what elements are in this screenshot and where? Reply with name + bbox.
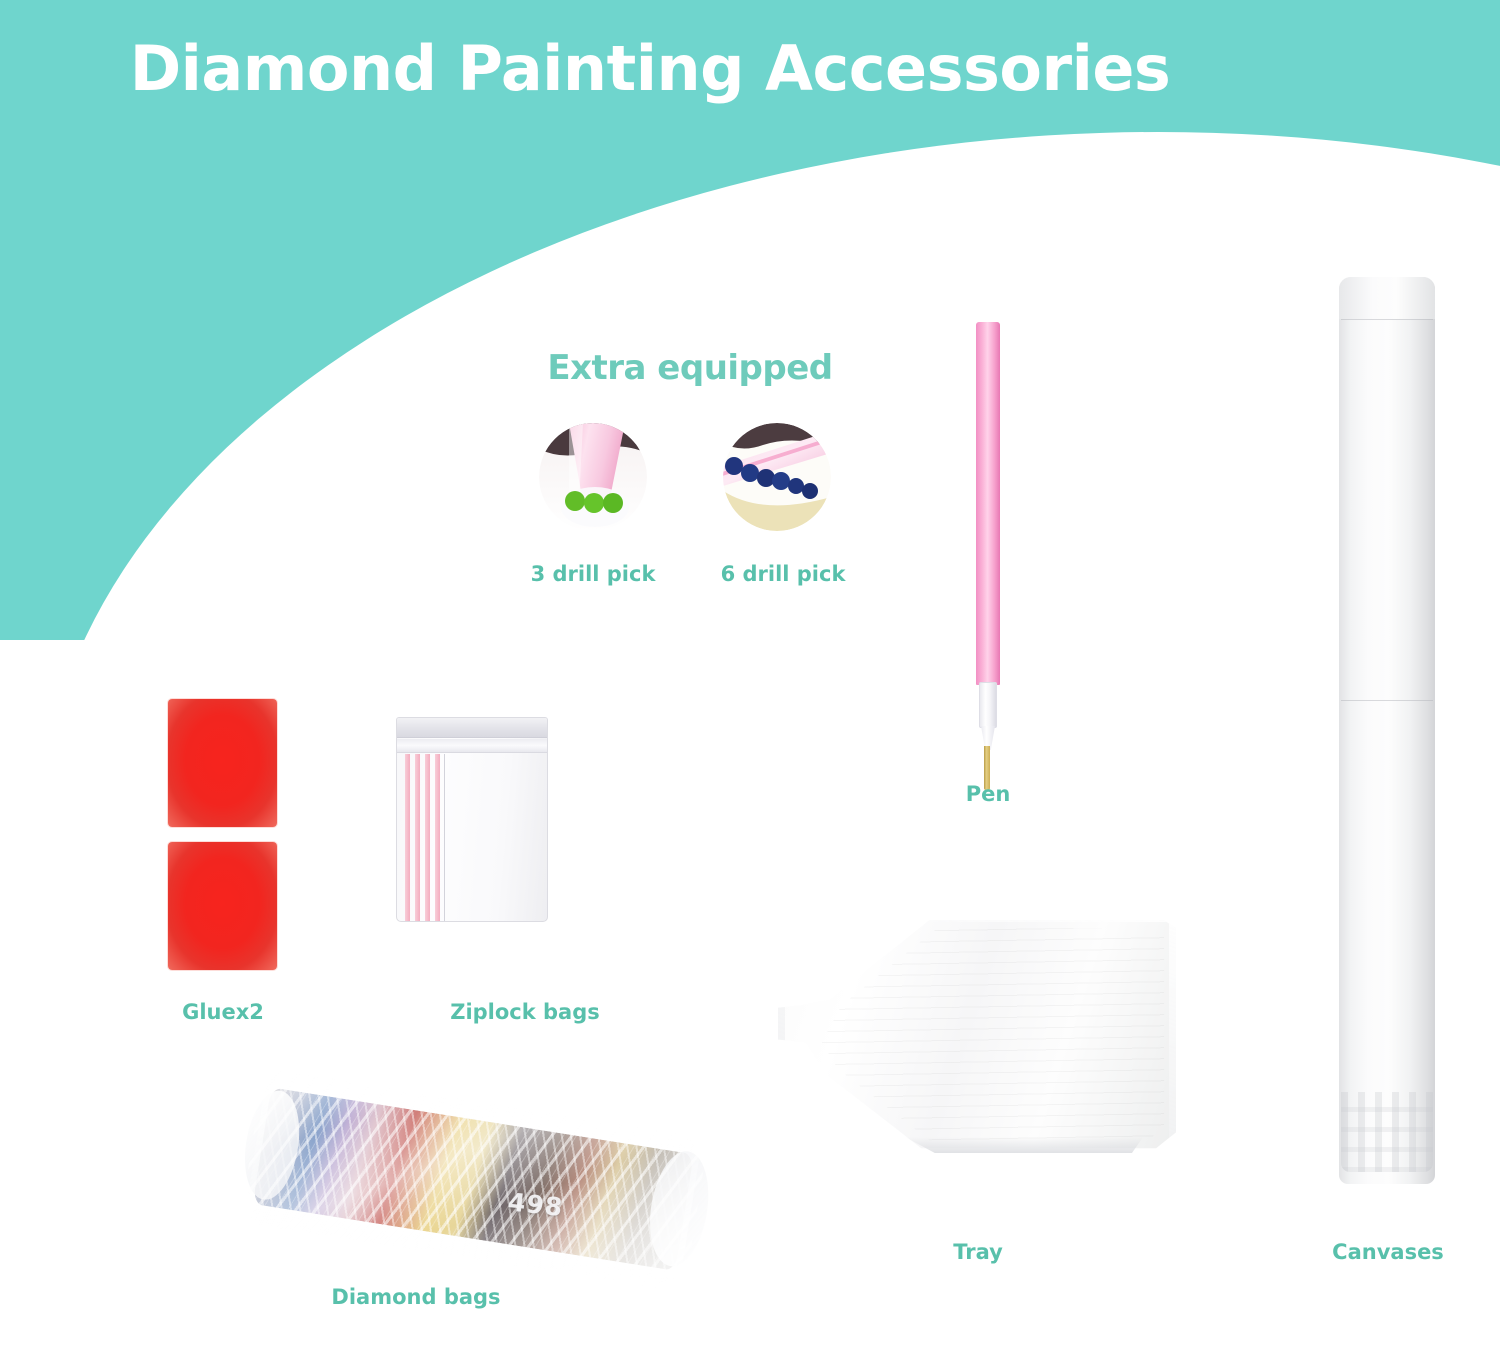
- bundle-plastic-film: [244, 1069, 703, 1292]
- canvas-tube-top-band: [1339, 277, 1435, 319]
- ziplock-bag-seal: [397, 739, 547, 753]
- bundle-count-text: 498: [507, 1187, 565, 1222]
- canvas-tube-seam: [1341, 319, 1433, 320]
- diamond-bags-label: Diamond bags: [258, 1285, 574, 1309]
- extra-equipped-heading: Extra equipped: [505, 348, 875, 388]
- ziplock-bag-flap: [397, 718, 547, 738]
- pink-drill-pen-body: [976, 322, 1000, 685]
- tray-label: Tray: [888, 1240, 1068, 1264]
- pen-label: Pen: [900, 782, 1076, 806]
- three-drill-pick-illustration: [539, 423, 647, 531]
- ziplock-pink-stripe: [425, 754, 430, 922]
- six-drill-pick-label: 6 drill pick: [690, 562, 876, 586]
- three-drill-pick-photo: [539, 423, 647, 531]
- glue-label: Gluex2: [140, 1000, 306, 1024]
- ziplock-inner-edge: [444, 754, 445, 922]
- pen-clear-collar: [979, 682, 997, 728]
- six-drill-pick-illustration: [723, 423, 831, 531]
- three-drill-pick-label: 3 drill pick: [500, 562, 686, 586]
- canvases-label: Canvases: [1290, 1240, 1486, 1264]
- ziplock-bag: [396, 717, 548, 922]
- glue-square-top: [168, 699, 277, 827]
- glue-square-bottom: [168, 842, 277, 970]
- rolled-canvas-tube: [1339, 277, 1435, 1184]
- product-infographic: Diamond Painting Accessories Extra equip…: [0, 0, 1500, 1346]
- ziplock-bags-label: Ziplock bags: [392, 1000, 658, 1024]
- tray-front-edge: [786, 1137, 1158, 1153]
- ziplock-pink-stripe: [415, 754, 420, 922]
- six-drill-pick-photo: [723, 423, 831, 531]
- page-title: Diamond Painting Accessories: [0, 36, 1300, 101]
- canvas-tube-bottom-texture: [1341, 1092, 1433, 1172]
- canvas-tube-seam: [1341, 700, 1433, 701]
- diamond-bags-bundle: 498: [246, 1060, 698, 1315]
- white-drill-tray: [778, 915, 1176, 1180]
- ziplock-pink-stripe: [435, 754, 440, 922]
- ziplock-pink-stripe: [405, 754, 410, 922]
